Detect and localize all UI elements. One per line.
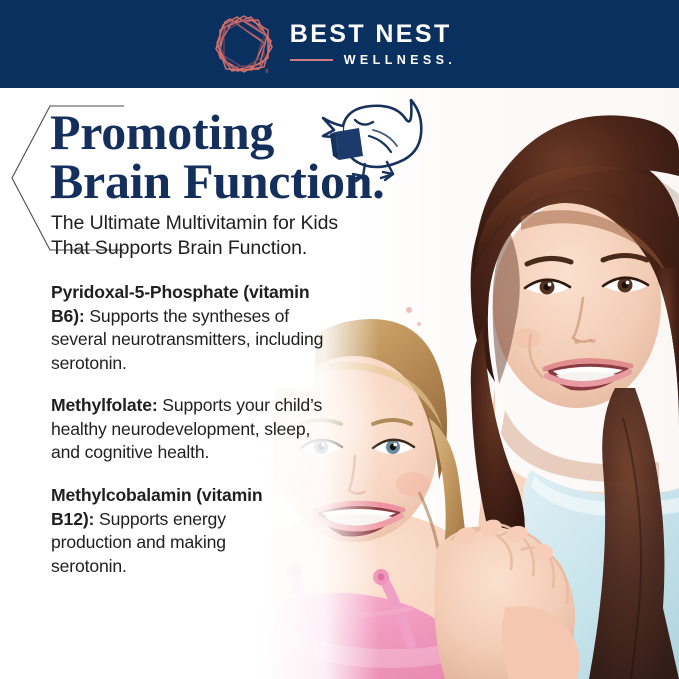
benefit-text: Supports the syntheses of several neurot… [51,306,323,373]
brand-tagline-row: WELLNESS. [290,54,457,67]
brand-lockup: ® BEST NEST WELLNESS. [215,13,457,75]
subtitle-line-2: That Supports Brain Function. [51,237,307,259]
brand-name: BEST NEST [290,22,457,47]
brand-tagline: WELLNESS. [344,54,457,67]
benefit-item: Methylcobalamin (vitamin B12): Supports … [51,484,266,578]
page-subtitle: The Ultimate Multivitamin for Kids That … [51,211,401,261]
brand-header: ® BEST NEST WELLNESS. [0,0,679,88]
svg-text:®: ® [265,68,269,75]
page-title: Promoting Brain Function. [50,108,470,206]
benefit-item: Pyridoxal-5-Phosphate (vitamin B6): Supp… [51,281,341,375]
subtitle-line-1: The Ultimate Multivitamin for Kids [51,212,338,234]
headline-line-2: Brain Function. [50,157,470,206]
brand-dash-icon [290,59,333,61]
hexagon-nest-icon: ® [215,13,273,75]
product-infographic: ® BEST NEST WELLNESS. [0,0,679,679]
benefit-lead: Methylfolate: [51,395,158,415]
headline-line-1: Promoting [50,108,470,157]
brand-text: BEST NEST WELLNESS. [290,22,457,67]
benefits-list: Pyridoxal-5-Phosphate (vitamin B6): Supp… [51,281,341,578]
benefit-item: Methylfolate: Supports your child’s heal… [51,394,341,465]
